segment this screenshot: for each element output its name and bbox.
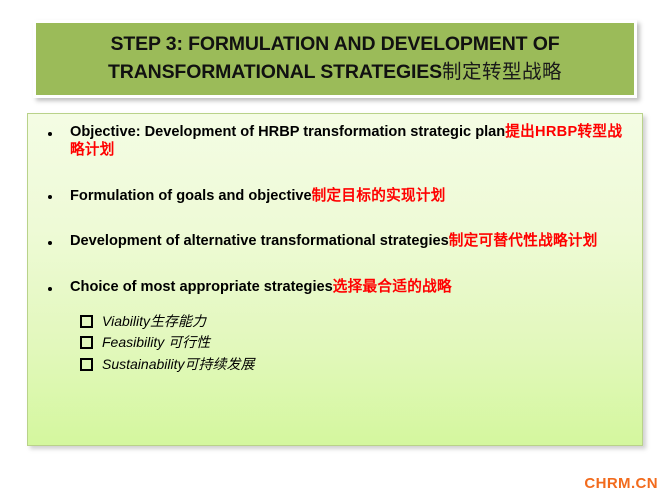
sub-bullet-text-en: Viability [102, 313, 150, 329]
bullet-text-en: Development of alternative transformatio… [70, 233, 449, 249]
sub-bullet-item-sustainability: Sustainability可持续发展 [80, 354, 628, 375]
hollow-square-icon [80, 358, 93, 371]
sub-bullet-item-feasibility: Feasibility 可行性 [80, 332, 628, 353]
sub-bullet-list: Viability生存能力 Feasibility 可行性 Sustainabi… [38, 311, 628, 375]
sub-bullet-text-cn: 可行性 [168, 334, 210, 350]
slide-title-text: STEP 3: FORMULATION AND DEVELOPMENT OFTR… [108, 31, 562, 86]
bullet-dot-icon [48, 195, 52, 199]
bullet-text-en: Formulation of goals and objective [70, 188, 312, 204]
bullet-item-formulation: Formulation of goals and objective制定目标的实… [38, 188, 628, 206]
slide-canvas: STEP 3: FORMULATION AND DEVELOPMENT OFTR… [0, 0, 670, 502]
hollow-square-icon [80, 336, 93, 349]
bullet-dot-icon [48, 241, 52, 245]
bullet-list: Objective: Development of HRBP transform… [38, 124, 628, 297]
watermark-chrm-cn: CHRM.CN [584, 475, 658, 492]
bullet-dot-icon [48, 132, 52, 136]
bullet-dot-icon [48, 287, 52, 291]
title-line2-cn: 制定转型战略 [442, 61, 562, 83]
slide-title-box: STEP 3: FORMULATION AND DEVELOPMENT OFTR… [33, 20, 637, 98]
bullet-text-en: Objective: Development of HRBP transform… [70, 124, 505, 140]
bullet-text-cn: 制定目标的实现计划 [312, 188, 446, 204]
bullet-item-choice: Choice of most appropriate strategies选择最… [38, 279, 628, 297]
bullet-text-cn: 制定可替代性战略计划 [449, 233, 598, 249]
bullet-text-cn: 选择最合适的战略 [333, 279, 452, 295]
title-line2-en: TRANSFORMATIONAL STRATEGIES [108, 61, 442, 83]
sub-bullet-item-viability: Viability生存能力 [80, 311, 628, 332]
bullet-item-objective: Objective: Development of HRBP transform… [38, 124, 628, 160]
bullet-item-alternative-strategies: Development of alternative transformatio… [38, 233, 628, 251]
sub-bullet-text-cn: 生存能力 [150, 313, 206, 329]
slide-content-box: Objective: Development of HRBP transform… [27, 113, 643, 446]
sub-bullet-text-en: Sustainability [102, 356, 185, 372]
sub-bullet-text-cn: 可持续发展 [185, 356, 255, 372]
title-line1-en: STEP 3: FORMULATION AND DEVELOPMENT OF [111, 33, 560, 55]
sub-bullet-text-en: Feasibility [102, 334, 168, 350]
hollow-square-icon [80, 315, 93, 328]
bullet-text-en: Choice of most appropriate strategies [70, 279, 333, 295]
